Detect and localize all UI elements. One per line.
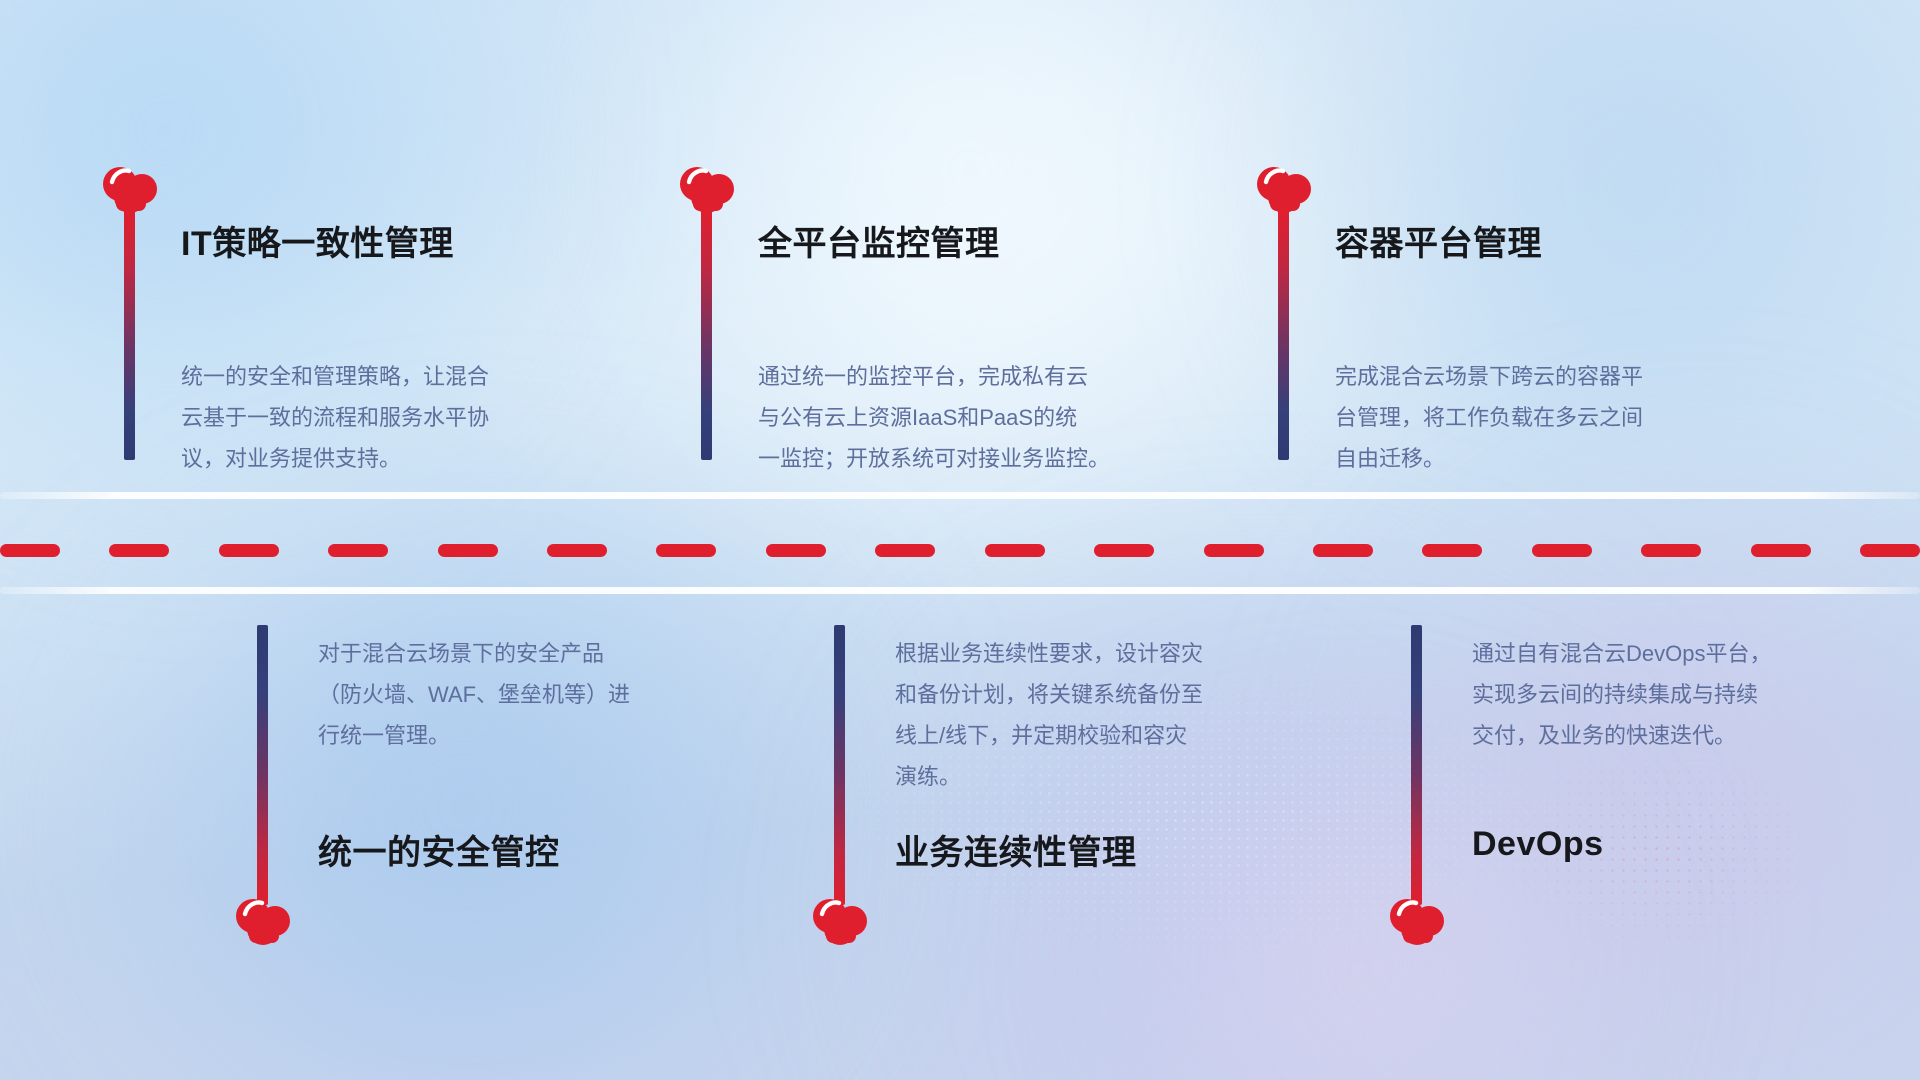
infographic-canvas: IT策略一致性管理 统一的安全和管理策略，让混合 云基于一致的流程和服务水平协 …	[0, 0, 1920, 1080]
dash-segment	[219, 544, 279, 557]
section-title: IT策略一致性管理	[181, 216, 454, 265]
dash-segment	[1204, 544, 1264, 557]
dash-segment	[1532, 544, 1592, 557]
divider-rule-bottom	[0, 587, 1920, 594]
dash-segment	[328, 544, 388, 557]
cloud-icon	[96, 163, 164, 215]
section-title: DevOps	[1472, 825, 1604, 864]
dash-segment	[1751, 544, 1811, 557]
dash-segment	[1094, 544, 1154, 557]
section-title: 统一的安全管控	[318, 825, 560, 874]
dash-segment	[1860, 544, 1920, 557]
connector-bar	[124, 210, 135, 460]
dash-segment	[0, 544, 60, 557]
section-title: 全平台监控管理	[758, 216, 1000, 265]
connector-bar	[1278, 210, 1289, 460]
section-body: 对于混合云场景下的安全产品 （防火墙、WAF、堡垒机等）进 行统一管理。	[318, 633, 748, 756]
section-body: 通过自有混合云DevOps平台， 实现多云间的持续集成与持续 交付，及业务的快速…	[1472, 633, 1892, 756]
dashed-divider-line	[0, 544, 1920, 557]
dash-segment	[1641, 544, 1701, 557]
dash-segment	[875, 544, 935, 557]
section-title: 业务连续性管理	[895, 825, 1137, 874]
connector-bar	[257, 625, 268, 905]
dash-segment	[656, 544, 716, 557]
cloud-icon	[806, 895, 874, 947]
cloud-icon	[673, 163, 741, 215]
section-body: 通过统一的监控平台，完成私有云 与公有云上资源IaaS和PaaS的统 一监控；开…	[758, 356, 1208, 479]
dash-segment	[109, 544, 169, 557]
section-body: 根据业务连续性要求，设计容灾 和备份计划，将关键系统备份至 线上/线下，并定期校…	[895, 633, 1325, 797]
dash-segment	[438, 544, 498, 557]
connector-bar	[1411, 625, 1422, 905]
divider-rule-top	[0, 492, 1920, 499]
dash-segment	[1422, 544, 1482, 557]
connector-bar	[834, 625, 845, 905]
section-body: 完成混合云场景下跨云的容器平 台管理，将工作负载在多云之间 自由迁移。	[1335, 356, 1775, 479]
dash-segment	[1313, 544, 1373, 557]
section-body: 统一的安全和管理策略，让混合 云基于一致的流程和服务水平协 议，对业务提供支持。	[181, 356, 611, 479]
connector-bar	[701, 210, 712, 460]
section-title: 容器平台管理	[1335, 216, 1542, 265]
cloud-icon	[229, 895, 297, 947]
dash-segment	[766, 544, 826, 557]
cloud-icon	[1250, 163, 1318, 215]
cloud-icon	[1383, 895, 1451, 947]
dash-segment	[547, 544, 607, 557]
dash-segment	[985, 544, 1045, 557]
